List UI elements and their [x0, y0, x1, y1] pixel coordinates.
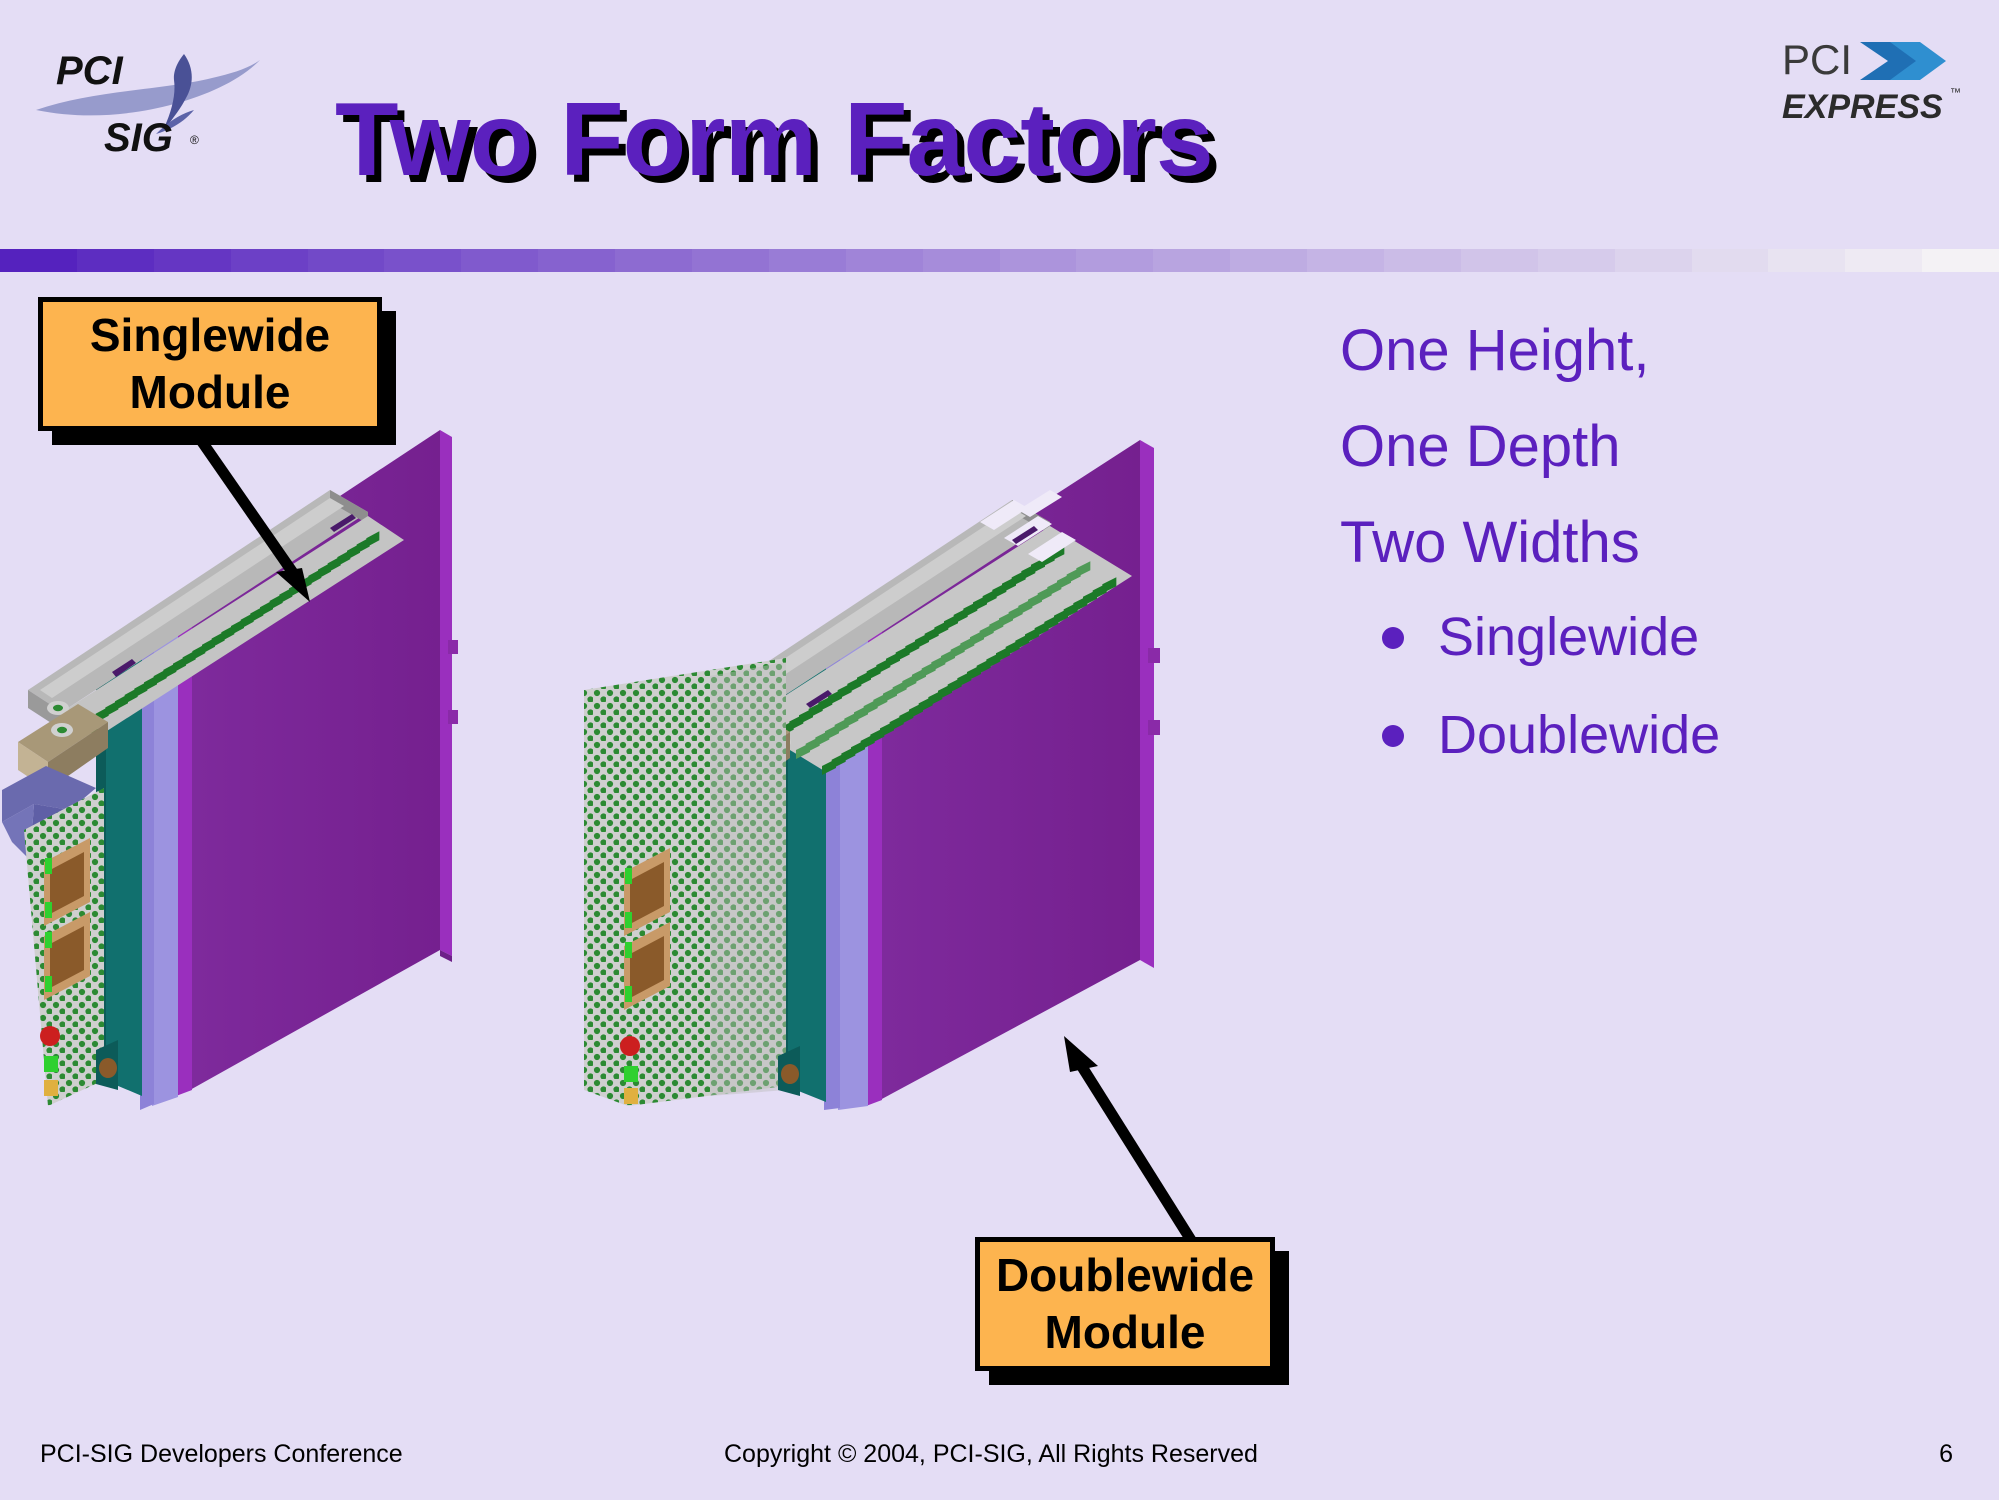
- gradient-rule-segment: [1461, 249, 1538, 272]
- callout-doublewide-box: Doublewide Module: [975, 1237, 1275, 1371]
- gradient-rule-segment: [923, 249, 1000, 272]
- svg-text:®: ®: [190, 133, 199, 147]
- doublewide-module-figure: [580, 390, 1200, 1110]
- gradient-rule-segment: [1692, 249, 1769, 272]
- callout-singlewide: Singlewide Module: [38, 297, 382, 431]
- gradient-rule-segment: [769, 249, 846, 272]
- callout-singlewide-line2: Module: [130, 364, 291, 421]
- svg-text:™: ™: [1950, 87, 1961, 99]
- gradient-rule-segment: [1922, 249, 1999, 272]
- led-green: [624, 1066, 638, 1082]
- gradient-rule-segment: [1845, 249, 1922, 272]
- bullet-dot-icon: [1382, 725, 1404, 747]
- pci-sig-logo: PCI SIG ®: [34, 38, 280, 158]
- gradient-rule: [0, 249, 1999, 272]
- callout-singlewide-box: Singlewide Module: [38, 297, 382, 431]
- bullet-label-doublewide: Doublewide: [1438, 705, 1720, 765]
- gradient-rule-segment: [846, 249, 923, 272]
- body-text-column: One Height, One Depth Two Widths Singlew…: [1340, 322, 1980, 806]
- led-amber: [624, 1088, 638, 1104]
- svg-text:EXPRESS: EXPRESS: [1782, 88, 1943, 126]
- gradient-rule-segment: [1768, 249, 1845, 272]
- gradient-rule-segment: [538, 249, 615, 272]
- body-bullet-list: Singlewide Doublewide: [1340, 610, 1980, 762]
- led-red: [40, 1026, 60, 1046]
- bullet-label-singlewide: Singlewide: [1438, 607, 1699, 667]
- gradient-rule-segment: [1076, 249, 1153, 272]
- slide-canvas: PCI SIG ® PCI EXPRESS ™ Two Form Factors: [0, 0, 1999, 1500]
- gradient-rule-segment: [615, 249, 692, 272]
- callout-doublewide: Doublewide Module: [975, 1237, 1275, 1371]
- led-amber: [44, 1080, 58, 1096]
- led-red: [620, 1036, 640, 1056]
- svg-text:PCI: PCI: [1782, 36, 1852, 83]
- doublewide-leader-arrow: [1020, 1030, 1240, 1260]
- gradient-rule-segment: [308, 249, 385, 272]
- gradient-rule-segment: [154, 249, 231, 272]
- bullet-dot-icon: [1382, 627, 1404, 649]
- footer-left-text: PCI-SIG Developers Conference: [40, 1440, 403, 1469]
- gradient-rule-segment: [1538, 249, 1615, 272]
- bullet-item-doublewide: Doublewide: [1340, 708, 1980, 762]
- callout-doublewide-line2: Module: [1045, 1304, 1206, 1361]
- singlewide-leader-arrow: [180, 430, 380, 630]
- gradient-rule-segment: [1230, 249, 1307, 272]
- gradient-rule-segment: [384, 249, 461, 272]
- body-line-0: One Height,: [1340, 322, 1980, 380]
- pci-express-logo: PCI EXPRESS ™: [1782, 34, 1972, 126]
- gradient-rule-segment: [1384, 249, 1461, 272]
- gradient-rule-segment: [231, 249, 308, 272]
- footer-page-number: 6: [1939, 1440, 1953, 1469]
- pci-sig-logo-text-sig: SIG: [104, 116, 173, 158]
- pci-sig-logo-text-pci: PCI: [56, 49, 124, 93]
- page-title: Two Form Factors: [335, 78, 1535, 202]
- gradient-rule-segment: [1615, 249, 1692, 272]
- led-green: [44, 1056, 58, 1072]
- gradient-rule-segment: [77, 249, 154, 272]
- callout-doublewide-line1: Doublewide: [996, 1247, 1254, 1304]
- callout-singlewide-line1: Singlewide: [90, 307, 330, 364]
- gradient-rule-segment: [0, 249, 77, 272]
- bullet-item-singlewide: Singlewide: [1340, 610, 1980, 664]
- gradient-rule-segment: [1307, 249, 1384, 272]
- gradient-rule-segment: [1153, 249, 1230, 272]
- body-line-2: Two Widths: [1340, 514, 1980, 572]
- gradient-rule-segment: [461, 249, 538, 272]
- body-line-1: One Depth: [1340, 418, 1980, 476]
- footer-copyright-text: Copyright © 2004, PCI-SIG, All Rights Re…: [724, 1440, 1258, 1469]
- slide-footer: PCI-SIG Developers Conference Copyright …: [0, 1422, 1999, 1500]
- gradient-rule-segment: [1000, 249, 1077, 272]
- gradient-rule-segment: [692, 249, 769, 272]
